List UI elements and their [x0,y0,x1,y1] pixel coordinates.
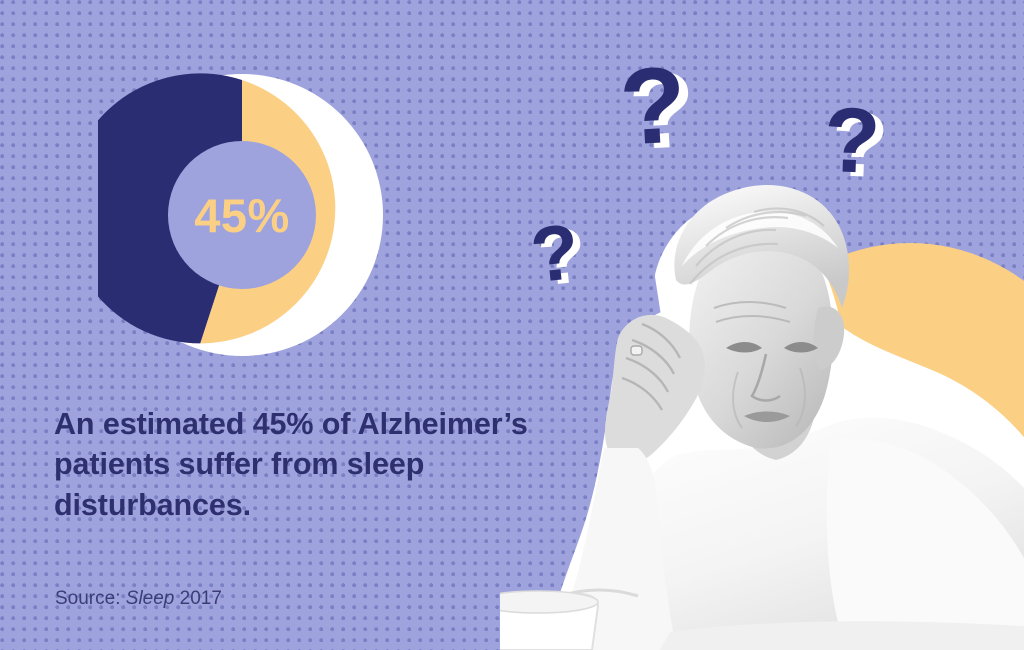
source-year: 2017 [180,588,222,609]
donut-chart-svg [98,71,386,359]
donut-chart: 45% [98,71,386,359]
infographic-canvas: 45% ? ? ? ? ? ? [0,0,1024,650]
source-prefix: Source: [55,588,120,609]
photo-ring [631,346,642,355]
question-mark-large-icon: ? ? [617,50,689,161]
elderly-woman-photo [500,158,1024,650]
photo-coffee-cup-rim [500,591,598,613]
question-mark-large-glyph: ? [617,43,689,167]
donut-inner-hole [168,141,316,289]
elderly-woman-photo-svg [500,158,1024,650]
source-journal-name: Sleep [126,588,175,609]
source-credit: Source: Sleep 2017 [55,588,222,610]
page-title: An estimated 45% of Alzheimer’s patients… [54,404,574,525]
